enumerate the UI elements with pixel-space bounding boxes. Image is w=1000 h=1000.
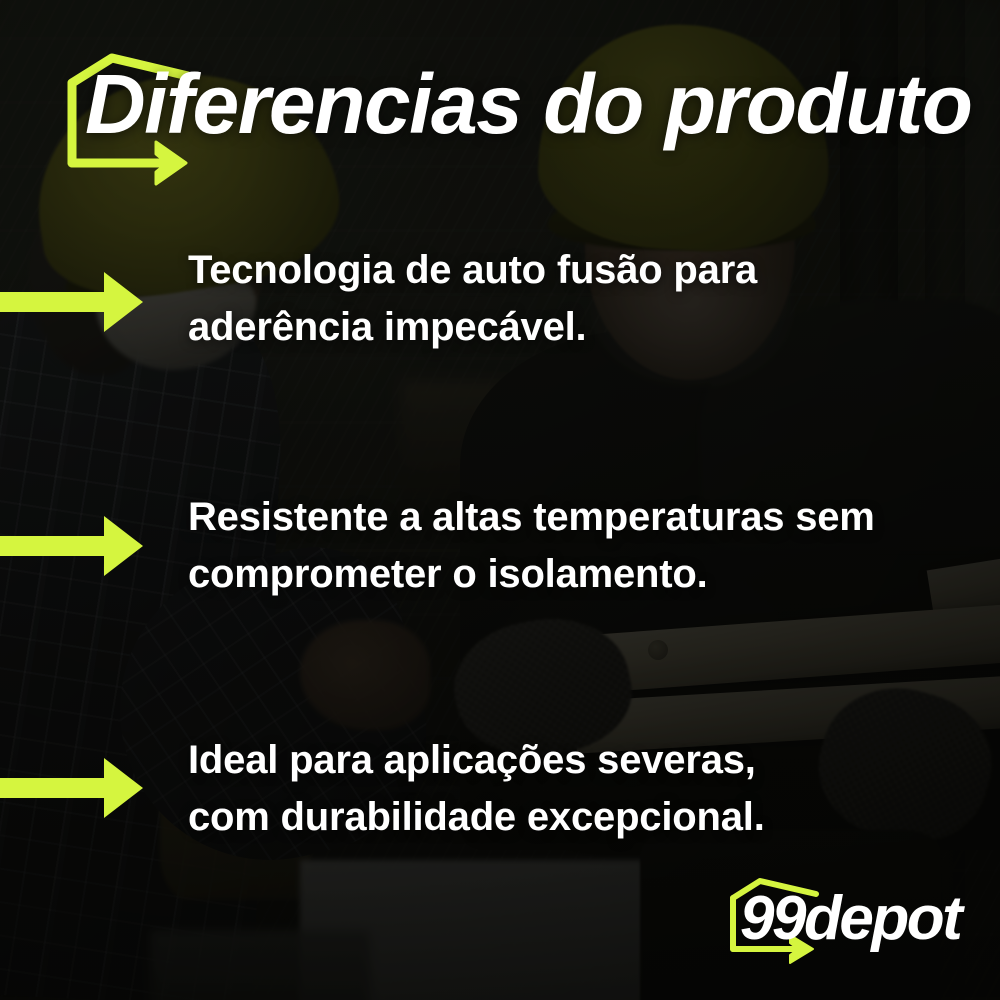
title-block: Diferencias do produto <box>0 0 1000 200</box>
poster-content: Diferencias do produto Tecnologia de aut… <box>0 0 1000 1000</box>
brand-wordmark: 99depot <box>740 888 960 950</box>
brand-logo: 99depot <box>722 876 952 966</box>
feature-text: Tecnologia de auto fusão para aderência … <box>188 242 808 356</box>
feature-row: Resistente a altas temperaturas sem comp… <box>0 490 1000 720</box>
feature-text: Resistente a altas temperaturas sem comp… <box>188 489 888 603</box>
promo-poster: Diferencias do produto Tecnologia de aut… <box>0 0 1000 1000</box>
arrow-right-icon <box>0 266 150 338</box>
brand-mark: 99 <box>740 884 804 953</box>
arrow-right-icon <box>0 510 150 582</box>
page-title: Diferencias do produto <box>85 62 985 146</box>
brand-word: depot <box>804 884 960 953</box>
arrow-right-icon <box>0 752 150 824</box>
feature-row: Tecnologia de auto fusão para aderência … <box>0 242 1000 412</box>
feature-text: Ideal para aplicações severas, com durab… <box>188 732 828 846</box>
